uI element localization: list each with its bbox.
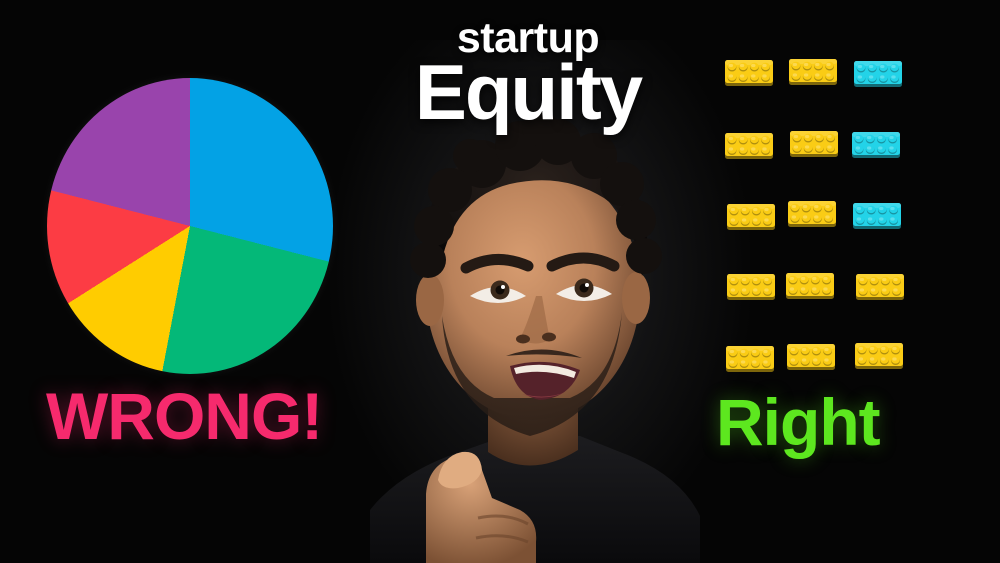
lego-brick-yellow xyxy=(725,344,775,374)
lego-row xyxy=(724,58,910,92)
lego-row xyxy=(724,129,910,163)
lego-brick-yellow xyxy=(726,272,776,302)
thumbnail-canvas: Blue 29%Green 24%Yellow 13%Red 13%Purple… xyxy=(0,0,1000,563)
equity-pie-chart: Blue 29%Green 24%Yellow 13%Red 13%Purple… xyxy=(47,78,333,374)
ear-left xyxy=(416,274,444,326)
person-photo xyxy=(330,80,730,563)
lego-row xyxy=(724,342,910,376)
lego-brick-yellow xyxy=(785,271,835,301)
lego-brick-yellow xyxy=(855,272,905,302)
pie-slices: Blue 29%Green 24%Yellow 13%Red 13%Purple… xyxy=(47,78,333,374)
lego-brick-yellow xyxy=(786,342,836,372)
lego-brick-yellow xyxy=(726,202,776,232)
lego-row xyxy=(724,271,910,305)
lego-brick-yellow xyxy=(724,131,774,161)
nostril-right xyxy=(542,333,556,342)
lego-row xyxy=(724,200,910,234)
ear-right xyxy=(622,272,650,324)
label-right: Right xyxy=(716,389,976,455)
lego-brick-yellow xyxy=(788,57,838,87)
lego-brick-yellow xyxy=(724,58,774,88)
lego-brick-cyan xyxy=(853,59,903,89)
nostril-left xyxy=(516,335,530,344)
lego-brick-grid xyxy=(724,58,910,374)
lego-brick-cyan xyxy=(851,130,901,160)
lego-brick-yellow xyxy=(789,129,839,159)
label-wrong: WRONG! xyxy=(46,383,366,449)
lego-brick-cyan xyxy=(852,201,902,231)
lego-brick-yellow xyxy=(787,199,837,229)
lego-brick-yellow xyxy=(854,341,904,371)
